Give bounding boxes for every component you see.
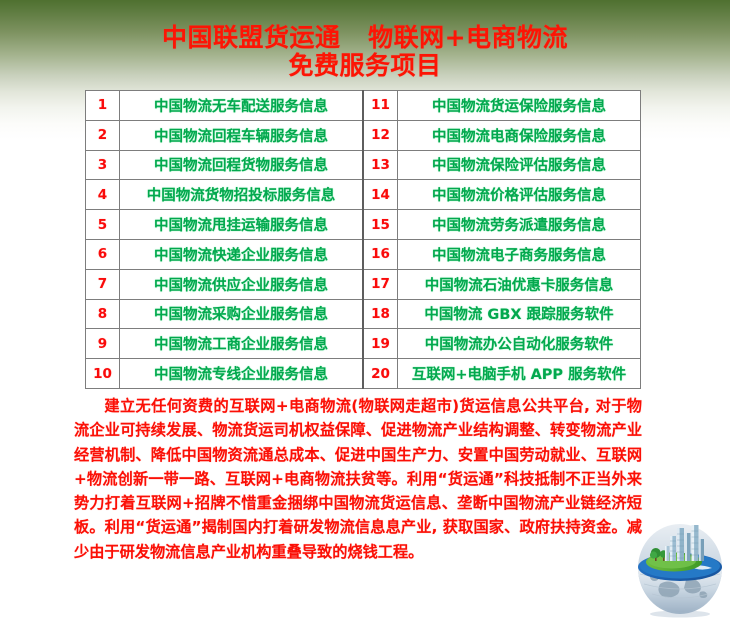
title-line-1: 中国联盟货运通 物联网+电商物流 (0, 24, 730, 52)
earth-globe-city-icon (630, 522, 730, 620)
title-line-2: 免费服务项目 (0, 52, 730, 80)
row-number-right: 13 (363, 150, 398, 180)
row-number-left: 4 (86, 180, 120, 210)
service-label-left: 中国物流货物招投标服务信息 (120, 180, 364, 210)
service-label-right: 中国物流电子商务服务信息 (398, 239, 641, 269)
row-number-right: 17 (363, 269, 398, 299)
service-label-right: 中国物流价格评估服务信息 (398, 180, 641, 210)
service-label-left: 中国物流无车配送服务信息 (120, 91, 364, 121)
table-row: 9中国物流工商企业服务信息19中国物流办公自动化服务软件 (86, 329, 641, 359)
row-number-right: 12 (363, 120, 398, 150)
service-label-left: 中国物流采购企业服务信息 (120, 299, 364, 329)
services-table: 1中国物流无车配送服务信息11中国物流货运保险服务信息2中国物流回程车辆服务信息… (85, 90, 641, 389)
table-row: 5中国物流甩挂运输服务信息15中国物流劳务派遣服务信息 (86, 210, 641, 240)
row-number-left: 1 (86, 91, 120, 121)
service-label-right: 中国物流电商保险服务信息 (398, 120, 641, 150)
row-number-left: 5 (86, 210, 120, 240)
row-number-left: 8 (86, 299, 120, 329)
service-label-left: 中国物流甩挂运输服务信息 (120, 210, 364, 240)
table-row: 7中国物流供应企业服务信息17中国物流石油优惠卡服务信息 (86, 269, 641, 299)
table-row: 6中国物流快递企业服务信息16中国物流电子商务服务信息 (86, 239, 641, 269)
table-row: 10中国物流专线企业服务信息20互联网+电脑手机 APP 服务软件 (86, 359, 641, 389)
row-number-right: 14 (363, 180, 398, 210)
table-row: 4中国物流货物招投标服务信息14中国物流价格评估服务信息 (86, 180, 641, 210)
service-label-left: 中国物流供应企业服务信息 (120, 269, 364, 299)
slide-canvas: 中国联盟货运通 物联网+电商物流 免费服务项目 1中国物流无车配送服务信息11中… (0, 0, 730, 620)
services-table-container: 1中国物流无车配送服务信息11中国物流货运保险服务信息2中国物流回程车辆服务信息… (85, 90, 636, 389)
row-number-right: 19 (363, 329, 398, 359)
service-label-right: 中国物流保险评估服务信息 (398, 150, 641, 180)
row-number-right: 20 (363, 359, 398, 389)
row-number-right: 11 (363, 91, 398, 121)
row-number-left: 2 (86, 120, 120, 150)
row-number-left: 7 (86, 269, 120, 299)
row-number-right: 15 (363, 210, 398, 240)
table-row: 8中国物流采购企业服务信息18中国物流 GBX 跟踪服务软件 (86, 299, 641, 329)
service-label-right: 中国物流石油优惠卡服务信息 (398, 269, 641, 299)
row-number-left: 6 (86, 239, 120, 269)
row-number-left: 10 (86, 359, 120, 389)
service-label-left: 中国物流工商企业服务信息 (120, 329, 364, 359)
service-label-right: 中国物流货运保险服务信息 (398, 91, 641, 121)
service-label-right: 互联网+电脑手机 APP 服务软件 (398, 359, 641, 389)
description-paragraph: 建立无任何资费的互联网+电商物流(物联网走超市)货运信息公共平台, 对于物流企业… (74, 394, 642, 564)
row-number-left: 3 (86, 150, 120, 180)
service-label-right: 中国物流办公自动化服务软件 (398, 329, 641, 359)
table-row: 1中国物流无车配送服务信息11中国物流货运保险服务信息 (86, 91, 641, 121)
service-label-left: 中国物流回程车辆服务信息 (120, 120, 364, 150)
row-number-right: 18 (363, 299, 398, 329)
service-label-left: 中国物流回程货物服务信息 (120, 150, 364, 180)
service-label-right: 中国物流劳务派遣服务信息 (398, 210, 641, 240)
row-number-right: 16 (363, 239, 398, 269)
table-row: 2中国物流回程车辆服务信息12中国物流电商保险服务信息 (86, 120, 641, 150)
table-row: 3中国物流回程货物服务信息13中国物流保险评估服务信息 (86, 150, 641, 180)
service-label-left: 中国物流快递企业服务信息 (120, 239, 364, 269)
service-label-right: 中国物流 GBX 跟踪服务软件 (398, 299, 641, 329)
page-title: 中国联盟货运通 物联网+电商物流 免费服务项目 (0, 24, 730, 80)
service-label-left: 中国物流专线企业服务信息 (120, 359, 364, 389)
row-number-left: 9 (86, 329, 120, 359)
